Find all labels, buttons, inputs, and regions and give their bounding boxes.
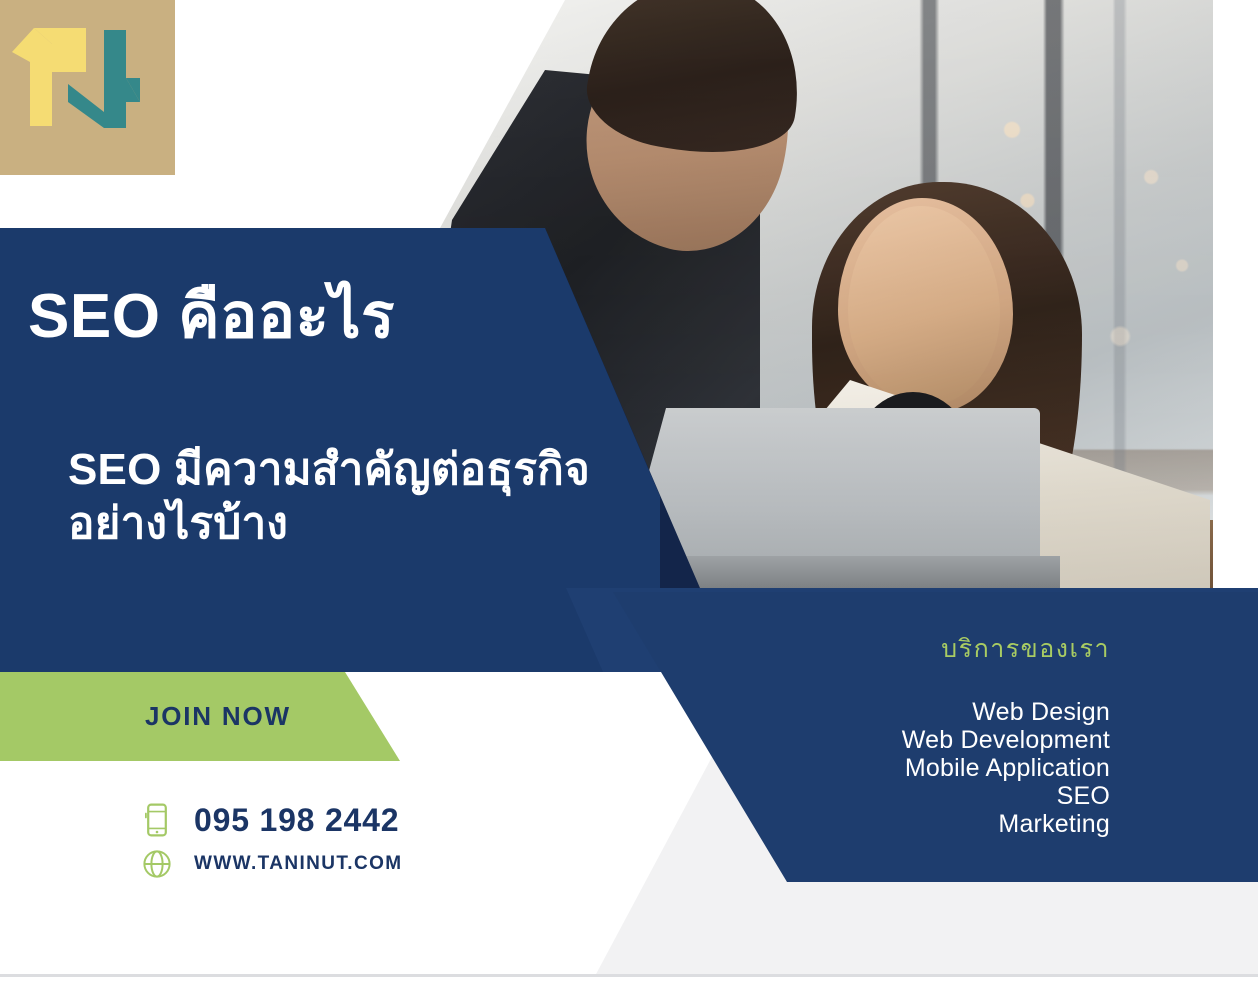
brand-logo-tile[interactable] <box>0 0 175 175</box>
join-now-label: JOIN NOW <box>145 701 291 732</box>
service-item-web-design[interactable]: Web Design <box>690 698 1110 726</box>
bottom-divider <box>0 974 1258 977</box>
contact-website-url: WWW.TANINUT.COM <box>194 853 403 875</box>
page-title: SEO คืออะไร <box>28 284 395 349</box>
page-subtitle-line-2: อย่างไรบ้าง <box>68 497 590 551</box>
smartphone-icon <box>140 803 174 837</box>
join-now-button[interactable]: JOIN NOW <box>0 672 400 761</box>
service-item-web-development[interactable]: Web Development <box>690 726 1110 754</box>
contact-block: 095 198 2442 WWW.TANINUT.COM <box>140 798 403 886</box>
service-item-mobile-application[interactable]: Mobile Application <box>690 754 1110 782</box>
globe-icon <box>140 847 174 881</box>
page-subtitle: SEO มีความสำคัญต่อธุรกิจ อย่างไรบ้าง <box>68 443 590 551</box>
banner-canvas: บริการของเรา Web Design Web Development … <box>0 0 1258 982</box>
contact-phone-row[interactable]: 095 198 2442 <box>140 798 403 842</box>
taninut-logo-mark <box>0 0 175 175</box>
services-title: บริการของเรา <box>690 636 1110 664</box>
contact-phone-number: 095 198 2442 <box>194 802 399 839</box>
page-subtitle-line-1: SEO มีความสำคัญต่อธุรกิจ <box>68 443 590 497</box>
services-content: บริการของเรา Web Design Web Development … <box>690 636 1110 838</box>
service-item-seo[interactable]: SEO <box>690 782 1110 810</box>
contact-website-row[interactable]: WWW.TANINUT.COM <box>140 842 403 886</box>
